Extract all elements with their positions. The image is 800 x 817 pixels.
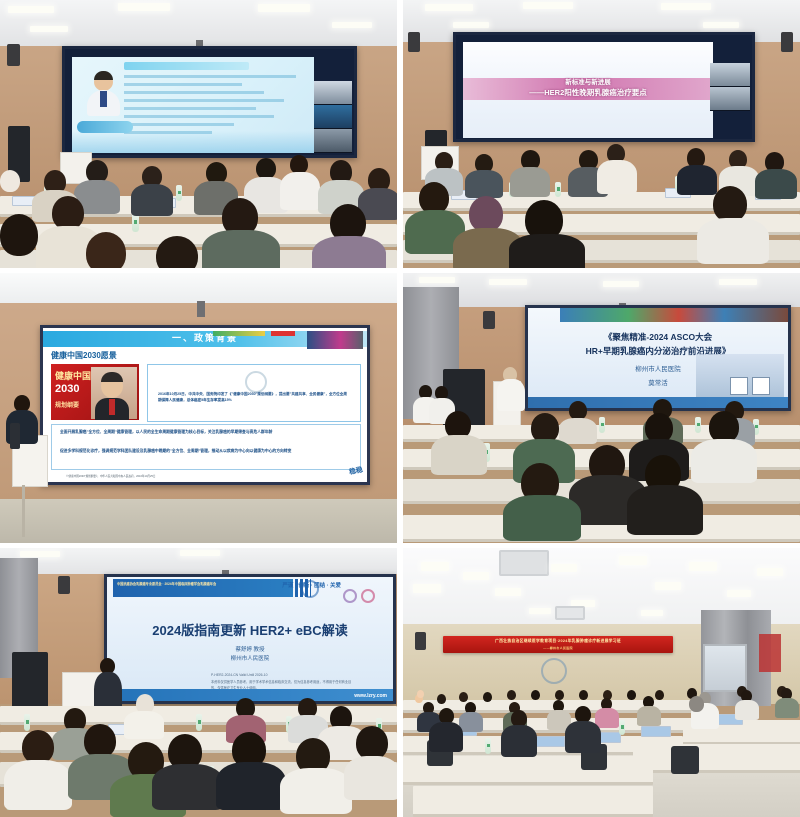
- slide-title-line1: 《聚焦精准-2024 ASCO大会: [528, 332, 788, 343]
- water-bottle: [555, 182, 561, 197]
- audience-head: [655, 690, 664, 700]
- water-bottle: [695, 417, 701, 433]
- slide-quote-text: 2016年10月25日，中共中央、国务院印发了《"健康中国2030"规划纲要》，…: [158, 391, 350, 403]
- slide-agenda: [72, 57, 314, 153]
- collage-panel-5: 中国抗癌协会乳腺癌专业委员会 · 2024年中国临床肿瘤学会乳腺癌年会 严谨 ·…: [0, 548, 397, 817]
- ceiling-light: [463, 572, 489, 580]
- audience-body: [735, 700, 759, 720]
- slide-title-line2: ——HER2阳性晚期乳腺癌治疗要点: [463, 88, 713, 97]
- ceiling-light: [30, 26, 68, 32]
- audience-body: [465, 170, 503, 198]
- collage-panel-3: 一、政策背景 健康中国2030愿景 健康中国 2030 规划纲要: [0, 273, 397, 543]
- audience-head: [507, 690, 516, 700]
- ceiling-light: [689, 562, 717, 571]
- audience-body: [124, 711, 164, 739]
- water-bottle: [485, 738, 491, 754]
- ceiling-light: [180, 550, 220, 556]
- equipment-rack: [12, 652, 48, 714]
- wall-speaker: [415, 632, 426, 650]
- audience-head: [459, 692, 468, 702]
- name-plate: [641, 726, 671, 737]
- wall-speaker: [483, 311, 495, 329]
- floor: [0, 499, 397, 543]
- audience-body: [755, 169, 797, 199]
- ceiling-light: [20, 551, 60, 557]
- poster-title-line2: 2030: [55, 383, 79, 395]
- slide-subheading: 健康中国2030愿景: [51, 350, 117, 361]
- audience-head: [356, 726, 388, 760]
- projector-mount: [197, 301, 205, 317]
- ceiling-light: [421, 562, 449, 571]
- photo-collage: 新标准与新进展 ——HER2阳性晚期乳腺癌治疗要点: [0, 0, 800, 817]
- audience-head: [256, 158, 276, 179]
- wall-speaker: [7, 44, 20, 66]
- slide-affiliation: 柳州市人民医院: [107, 656, 393, 663]
- water-bottle: [24, 714, 30, 731]
- audience-body: [131, 184, 173, 216]
- audience-head: [483, 692, 492, 702]
- audience-head: [84, 724, 116, 758]
- audience-body: [216, 762, 286, 810]
- cable: [22, 485, 25, 537]
- event-banner: 广西壮族自治区继续医学教育项目·2024年乳腺肿瘤诊疗新进展学习班 ——柳州市人…: [443, 636, 673, 653]
- audience-body: [627, 485, 703, 535]
- sponsor-logo: [361, 589, 375, 603]
- name-plate: [533, 736, 565, 747]
- wall-speaker: [58, 576, 70, 594]
- audience-body: [202, 230, 280, 268]
- ceiling-light: [757, 568, 783, 576]
- poster-title-line3: 规划纲要: [55, 400, 79, 409]
- wall-emblem: [541, 658, 567, 684]
- water-bottle: [619, 720, 625, 735]
- desk-row: [413, 786, 653, 817]
- ceiling-light: [619, 556, 647, 565]
- audience-head: [156, 236, 198, 268]
- ceiling-light: [425, 4, 473, 11]
- window: [703, 644, 747, 692]
- audience-body: [4, 760, 72, 810]
- ceiling-light: [332, 22, 372, 28]
- audience-head: [627, 690, 636, 700]
- wall-poster: [759, 634, 781, 672]
- collage-panel-4: 《聚焦精准-2024 ASCO大会 HR+早期乳腺癌内分泌治疗前沿进展》 柳州市…: [403, 273, 800, 543]
- ceiling-light: [523, 2, 573, 9]
- ceiling-light: [703, 22, 739, 28]
- ceiling-light: [453, 22, 489, 28]
- audience-head: [52, 196, 84, 230]
- collage-panel-6: 广西壮族自治区继续医学教育项目·2024年乳腺肿瘤诊疗新进展学习班 ——柳州市人…: [403, 548, 800, 817]
- slide-bullet-1: 全面开展乳腺癌"全方位、全周期"健康管理，以人民的全生命周期健康管理为核心目标，…: [60, 429, 352, 435]
- slide-footnote: 《"健康中国2030"规划纲要》，中华人民共和国中央人民政府，2016年10月2…: [65, 474, 327, 478]
- water-bottle: [599, 417, 605, 433]
- audience-body: [637, 706, 661, 726]
- collage-panel-2: 新标准与新进展 ——HER2阳性晚期乳腺癌治疗要点: [403, 0, 800, 268]
- ceiling-light: [603, 281, 639, 287]
- ceiling-light: [489, 279, 527, 285]
- audience-body: [431, 435, 487, 475]
- audience-body: [509, 234, 585, 268]
- wall-speaker: [408, 32, 420, 52]
- ceiling-light: [641, 610, 663, 616]
- led-screen: [62, 46, 357, 158]
- qr-code: [752, 377, 770, 395]
- audience-head: [579, 690, 588, 700]
- audience-body: [429, 722, 463, 752]
- slide-her2-guideline: 中国抗癌协会乳腺癌专业委员会 · 2024年中国临床肿瘤学会乳腺癌年会 严谨 ·…: [107, 577, 393, 701]
- ceiling: [0, 273, 397, 303]
- ceiling-light: [719, 279, 757, 285]
- audience-body: [677, 165, 717, 195]
- water-bottle: [176, 185, 182, 201]
- wall-speaker: [781, 32, 793, 52]
- audience-body: [280, 768, 352, 814]
- ceiling-projector: [555, 606, 585, 620]
- audience-body: [503, 495, 581, 541]
- audience-body: [501, 725, 537, 757]
- audience-body: [152, 764, 224, 810]
- slide-header-text: 中国抗癌协会乳腺癌专业委员会 · 2024年中国临床肿瘤学会乳腺癌年会: [117, 582, 273, 587]
- ceiling-light: [495, 588, 521, 596]
- slide-policy-background: 一、政策背景 健康中国2030愿景 健康中国 2030 规划纲要: [43, 328, 367, 482]
- audience-head: [689, 696, 704, 712]
- slide-title-line1: 新标准与新进展: [463, 79, 713, 87]
- ceiling-ac-vent: [499, 550, 549, 576]
- ceiling-light: [551, 564, 577, 572]
- audience-head: [0, 170, 20, 192]
- slide-presenter: 蔡舒婷 教授: [107, 647, 393, 654]
- speaker-body: [497, 379, 525, 411]
- led-screen: 一、政策背景 健康中国2030愿景 健康中国 2030 规划纲要: [40, 325, 370, 485]
- ceiling-light: [661, 3, 711, 10]
- ceiling-light: [419, 277, 455, 283]
- audience-body: [595, 708, 619, 728]
- audience-body: [459, 712, 483, 732]
- video-conference-inset: [314, 81, 352, 153]
- video-conference-inset: [710, 63, 750, 111]
- audience-head: [555, 690, 564, 700]
- banner-line-1: 广西壮族自治区继续医学教育项目·2024年乳腺肿瘤诊疗新进展学习班: [443, 639, 673, 644]
- slide-title: 2024版指南更新 HER2+ eBC解读: [107, 623, 393, 639]
- audience-head: [713, 186, 747, 222]
- audience-body: [697, 218, 769, 264]
- water-bottle: [196, 714, 202, 731]
- slide-code-line: P-HER2-2024-CN Valid Until 2026-10: [211, 673, 267, 677]
- audience-body: [691, 439, 757, 483]
- slide-watermark: www.lzry.com: [354, 693, 387, 699]
- sponsor-logo: [343, 589, 357, 603]
- chair: [671, 746, 699, 774]
- equipment-rack: [10, 423, 20, 449]
- slide-title-page: 新标准与新进展 ——HER2阳性晚期乳腺癌治疗要点: [463, 42, 713, 138]
- ceiling-light: [655, 582, 681, 590]
- led-screen: 新标准与新进展 ——HER2阳性晚期乳腺癌治疗要点: [453, 32, 755, 142]
- audience-body: [559, 418, 597, 444]
- banner-line-2: ——柳州市人民医院: [443, 646, 673, 650]
- led-screen: 《聚焦精准-2024 ASCO大会 HR+早期乳腺癌内分泌治疗前沿进展》 柳州市…: [525, 305, 791, 411]
- ceiling-light: [413, 584, 441, 593]
- collage-panel-1: [0, 0, 397, 268]
- audience-body: [775, 698, 799, 718]
- water-bottle: [132, 214, 139, 232]
- audience-head: [469, 196, 503, 232]
- slide-asco-title: 《聚焦精准-2024 ASCO大会 HR+早期乳腺癌内分泌治疗前沿进展》 柳州市…: [528, 308, 788, 408]
- poster-title-line1: 健康中国: [55, 369, 91, 382]
- audience-body: [344, 756, 397, 800]
- audience-body: [280, 172, 320, 210]
- audience-head: [86, 232, 126, 268]
- ceiling-light: [8, 6, 54, 13]
- ceiling-light: [258, 4, 310, 12]
- led-screen: 中国抗癌协会乳腺癌专业委员会 · 2024年中国临床肿瘤学会乳腺癌年会 严谨 ·…: [104, 574, 396, 704]
- qr-code: [730, 377, 748, 395]
- audience-head: [531, 690, 540, 700]
- audience-body: [312, 236, 386, 268]
- audience-head: [22, 730, 54, 764]
- ceiling-light: [727, 590, 751, 597]
- desk-row: [633, 744, 800, 773]
- ceiling-light: [118, 3, 170, 11]
- audience-body: [510, 167, 550, 197]
- audience-body: [597, 160, 637, 194]
- audience-head: [417, 690, 424, 698]
- slide-bullet-2: 促进多学科规范化诊疗，强调规范学科团队建设及乳腺癌中晚期的"全方位、全周期"管理…: [60, 448, 352, 454]
- audience-head: [437, 694, 446, 704]
- audience-head: [0, 214, 38, 256]
- ceiling-light: [529, 608, 551, 614]
- sponsor-tagline: 严谨 · 创新 · 团结 · 关爱: [282, 581, 341, 589]
- audience-body: [565, 721, 601, 753]
